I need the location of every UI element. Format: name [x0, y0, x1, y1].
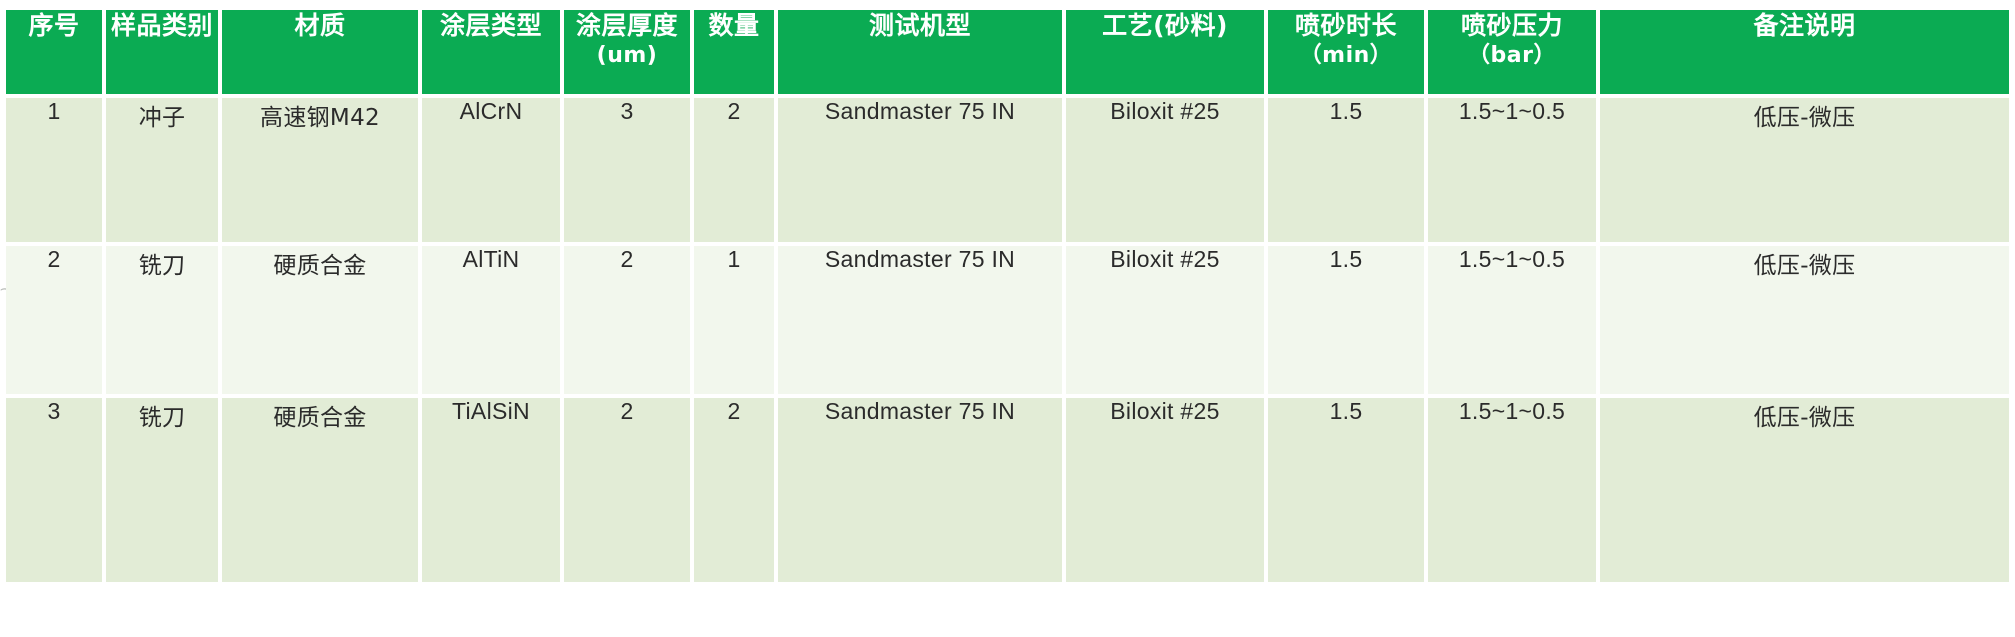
- table-header: 序号 样品类别 材质 涂层类型 涂层厚度 (um) 数量: [6, 10, 2009, 98]
- header-label: 测试机型: [869, 11, 971, 40]
- cell-blast-pressure[interactable]: 1.5~1~0.5: [1428, 246, 1600, 398]
- header-label: 喷砂压力: [1461, 11, 1563, 40]
- column-header-blast-pressure[interactable]: 喷砂压力 （bar）: [1428, 10, 1600, 98]
- column-header-coating-thickness[interactable]: 涂层厚度 (um): [564, 10, 694, 98]
- header-label: 数量: [708, 11, 759, 40]
- sample-blasting-parameters-table: 序号 样品类别 材质 涂层类型 涂层厚度 (um) 数量: [6, 10, 2009, 582]
- cell-process-media[interactable]: Biloxit #25: [1066, 98, 1268, 246]
- cell-index[interactable]: 1: [6, 98, 106, 246]
- column-header-sample-type[interactable]: 样品类别: [106, 10, 222, 98]
- cell-index[interactable]: 2: [6, 246, 106, 398]
- cell-remark[interactable]: 低压-微压: [1600, 398, 2009, 582]
- header-sublabel: （bar）: [1428, 41, 1596, 71]
- column-header-blast-time[interactable]: 喷砂时长 （min）: [1268, 10, 1428, 98]
- cell-coating-type[interactable]: TiAlSiN: [422, 398, 564, 582]
- cell-coating-type[interactable]: AlTiN: [422, 246, 564, 398]
- cell-quantity[interactable]: 2: [694, 398, 778, 582]
- cell-material[interactable]: 硬质合金: [222, 246, 422, 398]
- header-label: 涂层厚度: [576, 11, 678, 40]
- table-row[interactable]: 2 铣刀 硬质合金 AlTiN 2 1 Sandmaster 75 IN Bil…: [6, 246, 2009, 398]
- spreadsheet-canvas: ⁓ 序号 样品类别 材质: [0, 0, 2015, 637]
- cell-test-machine[interactable]: Sandmaster 75 IN: [778, 98, 1066, 246]
- table-body: 1 冲子 高速钢M42 AlCrN 3 2 Sandmaster 75 IN B…: [6, 98, 2009, 582]
- cell-quantity[interactable]: 2: [694, 98, 778, 246]
- cell-material[interactable]: 高速钢M42: [222, 98, 422, 246]
- cell-coating-thickness[interactable]: 2: [564, 246, 694, 398]
- header-sublabel: （min）: [1268, 41, 1424, 71]
- cell-coating-thickness[interactable]: 3: [564, 98, 694, 246]
- header-label: 样品类别: [111, 11, 213, 40]
- cell-coating-thickness[interactable]: 2: [564, 398, 694, 582]
- cell-index[interactable]: 3: [6, 398, 106, 582]
- column-header-test-machine[interactable]: 测试机型: [778, 10, 1066, 98]
- cell-sample-type[interactable]: 铣刀: [106, 246, 222, 398]
- cell-material[interactable]: 硬质合金: [222, 398, 422, 582]
- cell-sample-type[interactable]: 铣刀: [106, 398, 222, 582]
- header-row: 序号 样品类别 材质 涂层类型 涂层厚度 (um) 数量: [6, 10, 2009, 98]
- column-header-quantity[interactable]: 数量: [694, 10, 778, 98]
- cell-test-machine[interactable]: Sandmaster 75 IN: [778, 246, 1066, 398]
- cell-blast-pressure[interactable]: 1.5~1~0.5: [1428, 398, 1600, 582]
- cell-remark[interactable]: 低压-微压: [1600, 98, 2009, 246]
- cell-process-media[interactable]: Biloxit #25: [1066, 398, 1268, 582]
- cell-remark[interactable]: 低压-微压: [1600, 246, 2009, 398]
- header-label: 工艺(砂料): [1102, 11, 1228, 40]
- header-label: 涂层类型: [440, 11, 542, 40]
- cell-quantity[interactable]: 1: [694, 246, 778, 398]
- cell-blast-time[interactable]: 1.5: [1268, 246, 1428, 398]
- column-header-coating-type[interactable]: 涂层类型: [422, 10, 564, 98]
- cell-blast-pressure[interactable]: 1.5~1~0.5: [1428, 98, 1600, 246]
- column-header-remark[interactable]: 备注说明: [1600, 10, 2009, 98]
- column-header-material[interactable]: 材质: [222, 10, 422, 98]
- cell-test-machine[interactable]: Sandmaster 75 IN: [778, 398, 1066, 582]
- header-sublabel: (um): [564, 41, 690, 71]
- cell-blast-time[interactable]: 1.5: [1268, 98, 1428, 246]
- header-label: 序号: [28, 11, 79, 40]
- table-row[interactable]: 3 铣刀 硬质合金 TiAlSiN 2 2 Sandmaster 75 IN B…: [6, 398, 2009, 582]
- cell-coating-type[interactable]: AlCrN: [422, 98, 564, 246]
- cell-process-media[interactable]: Biloxit #25: [1066, 246, 1268, 398]
- column-header-process-media[interactable]: 工艺(砂料): [1066, 10, 1268, 98]
- table-row[interactable]: 1 冲子 高速钢M42 AlCrN 3 2 Sandmaster 75 IN B…: [6, 98, 2009, 246]
- cell-blast-time[interactable]: 1.5: [1268, 398, 1428, 582]
- header-label: 备注说明: [1753, 11, 1855, 40]
- header-label: 喷砂时长: [1295, 11, 1397, 40]
- header-label: 材质: [294, 11, 345, 40]
- cell-sample-type[interactable]: 冲子: [106, 98, 222, 246]
- column-header-index[interactable]: 序号: [6, 10, 106, 98]
